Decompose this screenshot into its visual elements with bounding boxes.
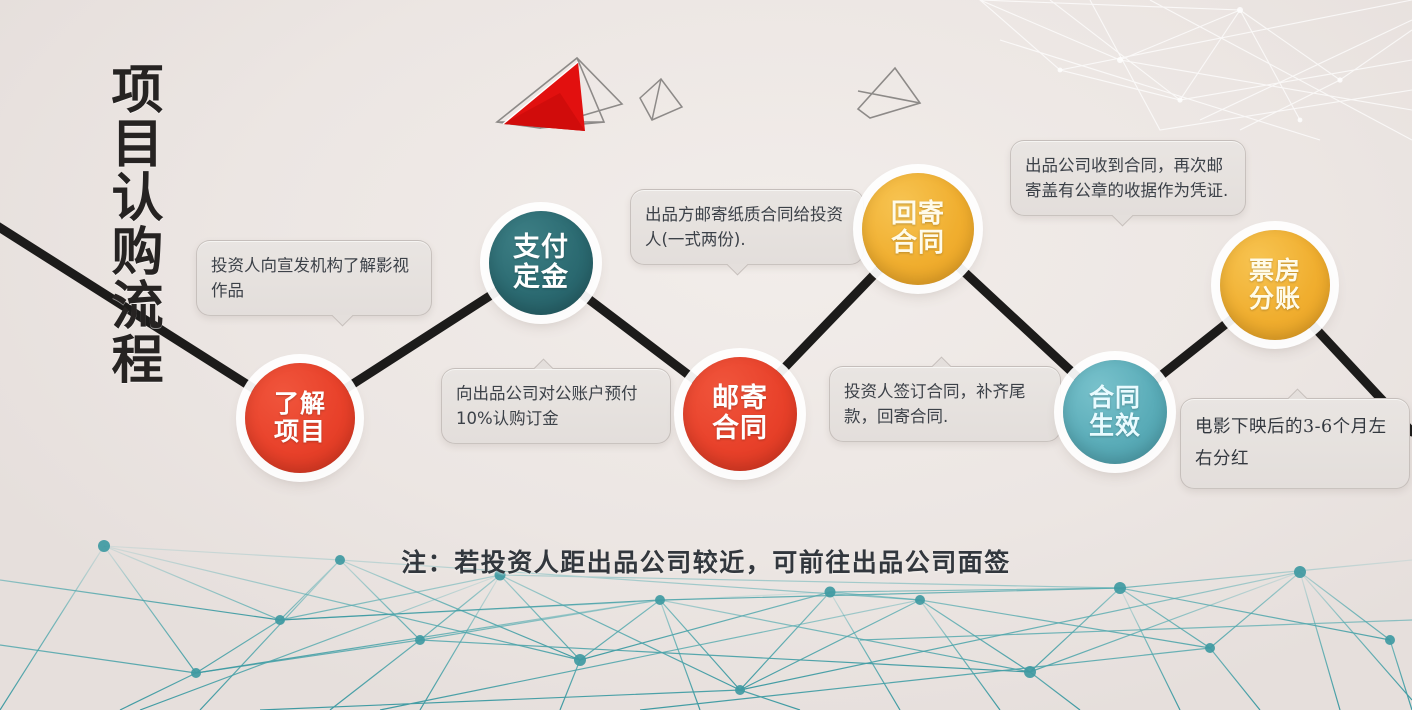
callout-text-4: 投资人签订合同，补齐尾款，回寄合同. [844,382,1026,426]
infographic-canvas: 项目认购流程 投资人向宣发机构了解影视作品 向出品公司对公账户预付10%认购订金… [0,0,1412,710]
callout-text-1: 投资人向宣发机构了解影视作品 [211,256,409,300]
callout-text-5: 出品公司收到合同，再次邮寄盖有公章的收据作为凭证. [1025,156,1228,200]
node-5-label-line1: 合同 [1089,384,1141,412]
flow-node-5-contract-effective[interactable]: 合同 生效 [1063,360,1167,464]
node-2-label-line2: 定金 [513,263,569,293]
callout-box-6: 电影下映后的3-6个月左右分红 [1180,398,1410,489]
network-mesh-top-right [0,0,1412,710]
plane-outline-large [497,58,622,128]
node-3-label-line2: 合同 [712,414,768,444]
flow-node-6-box-office-split[interactable]: 票房 分账 [1220,230,1330,340]
plane-red-filled [503,62,585,131]
callout-tail-2 [532,356,554,369]
plane-outline-right [858,68,920,118]
callout-tail-5 [1111,215,1133,228]
callout-box-5: 出品公司收到合同，再次邮寄盖有公章的收据作为凭证. [1010,140,1246,216]
plane-outline-mid [640,79,682,120]
page-title: 项目认购流程 [52,62,162,492]
callout-text-6: 电影下映后的3-6个月左右分红 [1195,417,1387,469]
node-4-label-line1: 回寄 [891,200,945,229]
node-1-label-line2: 项目 [274,418,326,446]
callout-text-2: 向出品公司对公账户预付10%认购订金 [456,384,638,428]
callout-tail-4 [930,354,952,367]
callout-box-3: 出品方邮寄纸质合同给投资人(一式两份). [630,189,864,265]
node-2-label-line1: 支付 [513,233,569,263]
callout-text-3: 出品方邮寄纸质合同给投资人(一式两份). [645,205,843,249]
node-1-label-line1: 了解 [274,390,326,418]
network-mesh-bottom [0,0,1412,710]
callout-box-2: 向出品公司对公账户预付10%认购订金 [441,368,671,444]
node-4-label-line2: 合同 [891,229,945,258]
callout-box-1: 投资人向宣发机构了解影视作品 [196,240,432,316]
node-6-label-line1: 票房 [1249,257,1301,285]
callout-tail-6 [1286,386,1308,399]
flow-node-4-return-contract[interactable]: 回寄 合同 [862,173,974,285]
callout-box-4: 投资人签订合同，补齐尾款，回寄合同. [829,366,1061,442]
callout-tail-1 [331,315,353,328]
flow-node-2-pay-deposit[interactable]: 支付 定金 [489,211,593,315]
footer-note: 注：若投资人距出品公司较近，可前往出品公司面签 [0,543,1412,579]
node-3-label-line1: 邮寄 [712,384,768,414]
node-6-label-line2: 分账 [1249,285,1301,313]
flow-node-3-mail-contract[interactable]: 邮寄 合同 [683,357,797,471]
paper-plane-decorations [0,0,1412,710]
node-5-label-line2: 生效 [1089,412,1141,440]
flow-line [0,0,1412,710]
flow-node-1-understand-project[interactable]: 了解 项目 [245,363,355,473]
callout-tail-3 [726,264,748,277]
